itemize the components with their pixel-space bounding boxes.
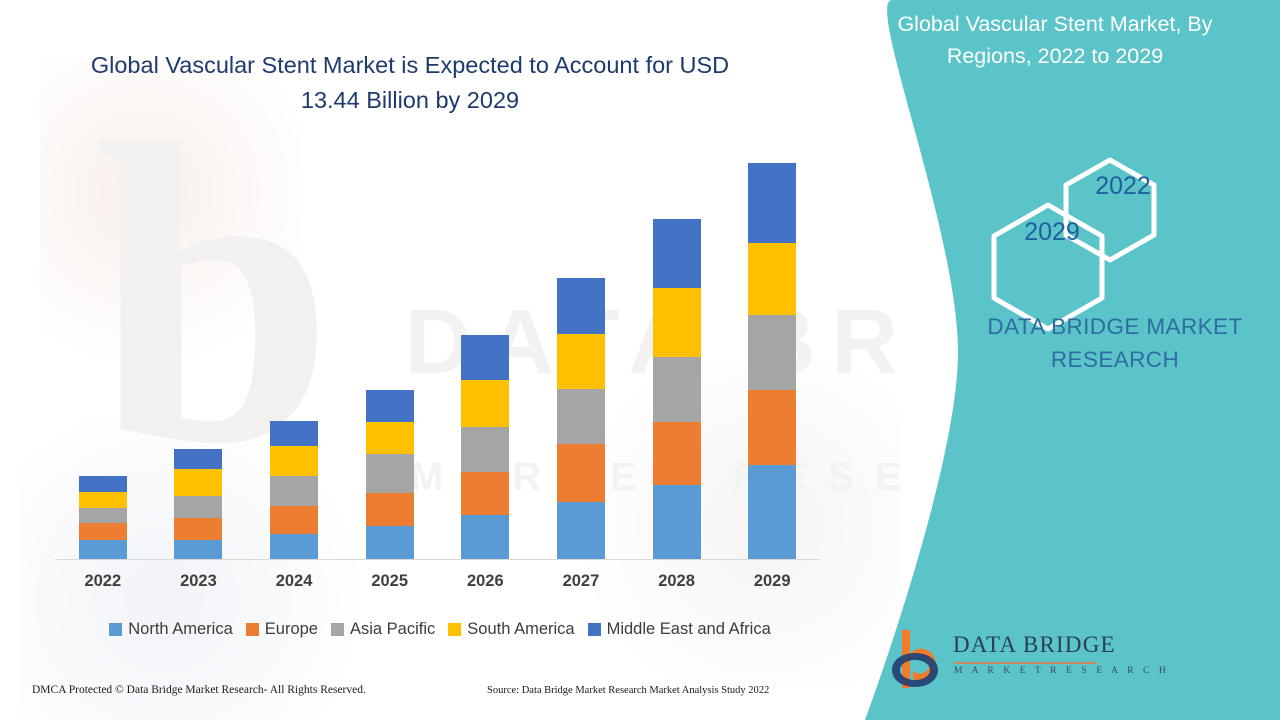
bar-segment (174, 496, 222, 518)
bar-stack-2024 (270, 421, 318, 559)
legend-item[interactable]: South America (448, 620, 574, 639)
bar-segment (366, 422, 414, 454)
brand-name: DATA BRIDGE MARKET RESEARCH (950, 310, 1280, 376)
logo-name: DATA BRIDGE (953, 632, 1116, 658)
bar-segment (557, 389, 605, 443)
bar-segment (461, 515, 509, 559)
bar-segment (653, 422, 701, 485)
bar-segment (748, 315, 796, 390)
legend-item[interactable]: Europe (246, 620, 318, 639)
stacked-bar-chart (55, 150, 820, 560)
legend-label: Europe (265, 620, 318, 639)
bar-segment (653, 288, 701, 357)
x-tick-label-2023: 2023 (153, 572, 243, 591)
bar-segment (270, 421, 318, 446)
x-axis-tick-labels: 20222023202420252026202720282029 (55, 572, 820, 598)
chart-plot-area (55, 154, 820, 560)
logo-tagline: M A R K E T R E S E A R C H (954, 666, 1169, 676)
bar-segment (79, 540, 127, 559)
legend-item[interactable]: Middle East and Africa (588, 620, 771, 639)
legend-swatch-icon (109, 623, 122, 636)
bar-stack-2029 (748, 163, 796, 559)
bar-segment (174, 518, 222, 539)
data-bridge-logo: DATA BRIDGE M A R K E T R E S E A R C H (888, 622, 1128, 700)
legend-item[interactable]: North America (109, 620, 233, 639)
page-title: Global Vascular Stent Market is Expected… (60, 48, 760, 118)
logo-divider (954, 662, 1097, 664)
bar-segment (79, 476, 127, 492)
x-tick-label-2025: 2025 (345, 572, 435, 591)
bar-stack-2022 (79, 476, 127, 559)
bar-segment (174, 469, 222, 496)
bar-segment (366, 526, 414, 559)
legend-label: North America (128, 620, 233, 639)
bar-segment (461, 335, 509, 380)
bar-segment (79, 523, 127, 540)
bar-segment (748, 163, 796, 243)
footer-copyright: DMCA Protected © Data Bridge Market Rese… (32, 684, 366, 696)
bar-segment (461, 380, 509, 427)
bar-segment (270, 446, 318, 476)
bar-segment (79, 492, 127, 508)
bar-segment (270, 476, 318, 506)
logo-mark-icon (888, 626, 950, 696)
legend-label: Asia Pacific (350, 620, 435, 639)
x-tick-label-2028: 2028 (632, 572, 722, 591)
bar-segment (270, 506, 318, 535)
legend-swatch-icon (588, 623, 601, 636)
hexagon-2022-label: 2022 (1073, 172, 1173, 201)
chart-title: Global Vascular Stent Market, By Regions… (860, 8, 1250, 72)
bar-segment (653, 357, 701, 422)
bar-stack-2023 (174, 449, 222, 559)
bar-segment (461, 427, 509, 473)
bar-segment (270, 534, 318, 559)
hexagon-2029-label: 2029 (997, 218, 1107, 247)
legend-item[interactable]: Asia Pacific (331, 620, 435, 639)
bar-segment (366, 390, 414, 422)
bar-stack-2025 (366, 390, 414, 559)
bar-stack-2027 (557, 278, 605, 559)
legend-swatch-icon (331, 623, 344, 636)
bar-stack-2028 (653, 219, 701, 559)
x-axis-line (55, 559, 820, 560)
bar-segment (174, 449, 222, 469)
bar-segment (653, 485, 701, 559)
x-tick-label-2022: 2022 (58, 572, 148, 591)
bar-segment (174, 540, 222, 559)
bar-segment (79, 508, 127, 523)
x-tick-label-2024: 2024 (249, 572, 339, 591)
footer-source: Source: Data Bridge Market Research Mark… (487, 685, 769, 696)
bar-segment (557, 278, 605, 334)
bar-segment (653, 219, 701, 287)
x-tick-label-2029: 2029 (727, 572, 817, 591)
bar-stack-2026 (461, 335, 509, 559)
bar-segment (461, 472, 509, 515)
bar-segment (748, 243, 796, 316)
legend-label: South America (467, 620, 574, 639)
bar-segment (748, 390, 796, 465)
bar-segment (366, 493, 414, 526)
legend-swatch-icon (448, 623, 461, 636)
bar-segment (557, 334, 605, 390)
bar-segment (557, 444, 605, 503)
legend-label: Middle East and Africa (607, 620, 771, 639)
left-content-panel: b DATA BRIDGE MARKET RESEARCH Global Vas… (0, 0, 900, 720)
bar-segment (366, 454, 414, 492)
bar-segment (748, 465, 796, 559)
x-tick-label-2026: 2026 (440, 572, 530, 591)
bar-segment (557, 502, 605, 559)
chart-legend: North AmericaEuropeAsia PacificSouth Ame… (55, 616, 825, 642)
x-tick-label-2027: 2027 (536, 572, 626, 591)
legend-swatch-icon (246, 623, 259, 636)
